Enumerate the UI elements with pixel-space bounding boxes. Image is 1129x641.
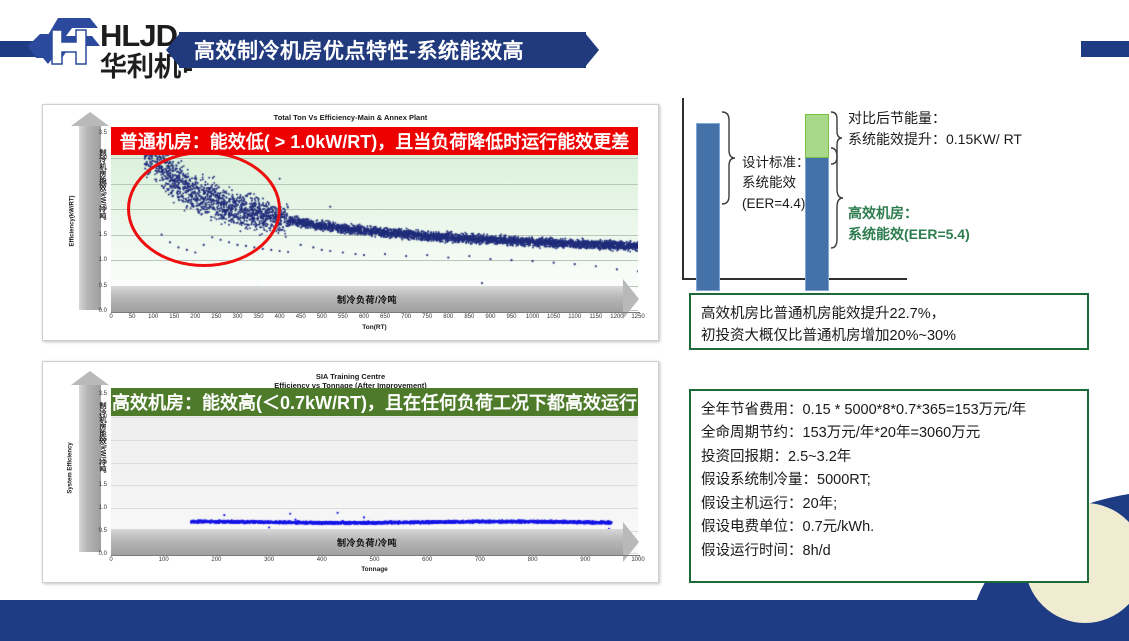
x-tick: 50 bbox=[129, 314, 136, 320]
chart-card-normal-plant: Total Ton Vs Efficiency-Main & Annex Pla… bbox=[42, 104, 659, 341]
chart2-ytick: 0.5 bbox=[89, 528, 107, 534]
chart1-ytick: 3.5 bbox=[89, 130, 107, 136]
x-tick: 1100 bbox=[568, 314, 581, 320]
chart2-ytick: 1.5 bbox=[89, 482, 107, 488]
x-tick: 1000 bbox=[631, 557, 644, 563]
chart-card-efficient-plant: SIA Training Centre Efficiency vs Tonnag… bbox=[42, 361, 659, 583]
x-tick: 400 bbox=[275, 314, 285, 320]
chart2-x-axis-label-cn: 制冷负荷/冷吨 bbox=[337, 536, 397, 549]
textbox1-line: 高效机房比普通机房能效提升22.7%， bbox=[701, 303, 1077, 325]
eer-comparison-diagram: 设计标准： 系统能效 (EER=4.4) 对比后节能量： 系统能效提升：0.15… bbox=[672, 98, 1102, 293]
chart1-y-axis-label-cn: 制冷机房能效/kW/冷吨 bbox=[97, 149, 107, 289]
x-tick: 1000 bbox=[526, 314, 539, 320]
x-tick: 600 bbox=[422, 557, 432, 563]
x-tick: 1050 bbox=[547, 314, 560, 320]
textbox2-line: 假设系统制冷量：5000RT; bbox=[701, 469, 1077, 492]
textbox2-line: 投资回报期：2.5~3.2年 bbox=[701, 446, 1077, 469]
logo-mark-icon bbox=[28, 18, 100, 64]
chart1-x-axis-label-cn: 制冷负荷/冷吨 bbox=[337, 293, 397, 306]
chart1-ytick: 0.0 bbox=[89, 308, 107, 314]
x-tick: 750 bbox=[422, 314, 432, 320]
chart1-ytick: 2.5 bbox=[89, 181, 107, 187]
bar-efficient-label: 高效机房： 系统能效(EER=5.4) bbox=[848, 203, 970, 245]
x-tick: 1150 bbox=[589, 314, 602, 320]
x-tick: 800 bbox=[528, 557, 538, 563]
chart2-ytick: 2.5 bbox=[89, 437, 107, 443]
x-tick: 700 bbox=[475, 557, 485, 563]
textbox2-line: 假设运行时间：8h/d bbox=[701, 540, 1077, 563]
summary-textbox-efficiency: 高效机房比普通机房能效提升22.7%， 初投资大概仅比普通机房增加20%~30% bbox=[689, 293, 1089, 350]
chart1-ytick: 1.5 bbox=[89, 232, 107, 238]
chart2-y-axis-label-en: System Efficiency bbox=[68, 442, 74, 493]
textbox2-line: 假设主机运行：20年; bbox=[701, 493, 1077, 516]
chart1-ytick: 0.5 bbox=[89, 283, 107, 289]
page-title: 高效制冷机房优点特性-系统能效高 bbox=[180, 35, 524, 65]
chart2-ytick: 0.0 bbox=[89, 551, 107, 557]
x-tick: 1200 bbox=[610, 314, 623, 320]
chart1-highlight-ellipse bbox=[127, 151, 281, 267]
chart2-x-axis-label-en: Tonnage bbox=[111, 566, 638, 573]
bottom-decor-bar bbox=[0, 600, 1129, 641]
x-tick: 850 bbox=[464, 314, 474, 320]
textbox2-line: 全年节省费用：0.15 * 5000*8*0.7*365=153万元/年 bbox=[701, 399, 1077, 422]
textbox2-line: 全命周期节约：153万元/年*20年=3060万元 bbox=[701, 422, 1077, 445]
textbox2-line: 假设电费单位：0.7元/kWh. bbox=[701, 516, 1077, 539]
chart2-ytick: 3.5 bbox=[89, 391, 107, 397]
x-tick: 950 bbox=[507, 314, 517, 320]
x-tick: 600 bbox=[359, 314, 369, 320]
chart1-ytick: 2.0 bbox=[89, 206, 107, 212]
x-tick: 800 bbox=[443, 314, 453, 320]
x-tick: 500 bbox=[369, 557, 379, 563]
x-tick: 200 bbox=[211, 557, 221, 563]
x-tick: 0 bbox=[109, 557, 112, 563]
x-tick: 650 bbox=[380, 314, 390, 320]
title-strip-right bbox=[1081, 41, 1129, 57]
x-tick: 300 bbox=[232, 314, 242, 320]
x-tick: 150 bbox=[169, 314, 179, 320]
x-tick: 900 bbox=[580, 557, 590, 563]
x-tick: 350 bbox=[254, 314, 264, 320]
textbox1-line: 初投资大概仅比普通机房增加20%~30% bbox=[701, 325, 1077, 347]
chart2-x-axis-line bbox=[111, 555, 640, 556]
x-tick: 0 bbox=[109, 314, 112, 320]
chart2-y-axis-label-cn: 制冷机房能效/kW/冷吨 bbox=[97, 402, 107, 532]
chart2-ytick: 2.0 bbox=[89, 460, 107, 466]
x-tick: 500 bbox=[317, 314, 327, 320]
chart2-ytick: 3.0 bbox=[89, 414, 107, 420]
slide: HLJD 华利机电 高效制冷机房优点特性-系统能效高 Total Ton Vs … bbox=[0, 0, 1129, 641]
bar-baseline-label: 设计标准： 系统能效 (EER=4.4) bbox=[742, 153, 810, 214]
slide-title-band: 高效制冷机房优点特性-系统能效高 bbox=[180, 33, 585, 67]
x-tick: 900 bbox=[485, 314, 495, 320]
x-tick: 550 bbox=[338, 314, 348, 320]
chart1-callout-banner: 普通机房：能效低( > 1.0kW/RT)，且当负荷降低时运行能效更差 bbox=[111, 127, 638, 155]
bar-saving-label: 对比后节能量： 系统能效提升：0.15KW/ RT bbox=[848, 108, 1022, 150]
x-tick: 200 bbox=[190, 314, 200, 320]
x-tick: 1250 bbox=[631, 314, 644, 320]
chart1-ytick: 3.0 bbox=[89, 155, 107, 161]
chart2-callout-banner: 高效机房：能效高(＜0.7kW/RT)，且在任何负荷工况下都高效运行 bbox=[111, 388, 638, 416]
x-tick: 450 bbox=[296, 314, 306, 320]
x-tick: 700 bbox=[401, 314, 411, 320]
x-tick: 100 bbox=[148, 314, 158, 320]
chart1-x-axis-label-en: Ton(RT) bbox=[111, 324, 638, 331]
summary-textbox-savings: 全年节省费用：0.15 * 5000*8*0.7*365=153万元/年 全命周… bbox=[689, 389, 1089, 583]
chart1-title: Total Ton Vs Efficiency-Main & Annex Pla… bbox=[49, 113, 652, 123]
chart1-x-axis-line bbox=[111, 312, 640, 313]
chart1-y-axis-label-en: Efficiency(kW/RT) bbox=[70, 195, 76, 246]
chart1-x-arrow-icon: 制冷负荷/冷吨 bbox=[111, 286, 623, 312]
x-tick: 100 bbox=[159, 557, 169, 563]
x-tick: 400 bbox=[317, 557, 327, 563]
x-tick: 300 bbox=[264, 557, 274, 563]
chart2-ytick: 1.0 bbox=[89, 505, 107, 511]
chart2-x-arrow-icon: 制冷负荷/冷吨 bbox=[111, 529, 623, 555]
chart1-ytick: 1.0 bbox=[89, 257, 107, 263]
x-tick: 250 bbox=[211, 314, 221, 320]
